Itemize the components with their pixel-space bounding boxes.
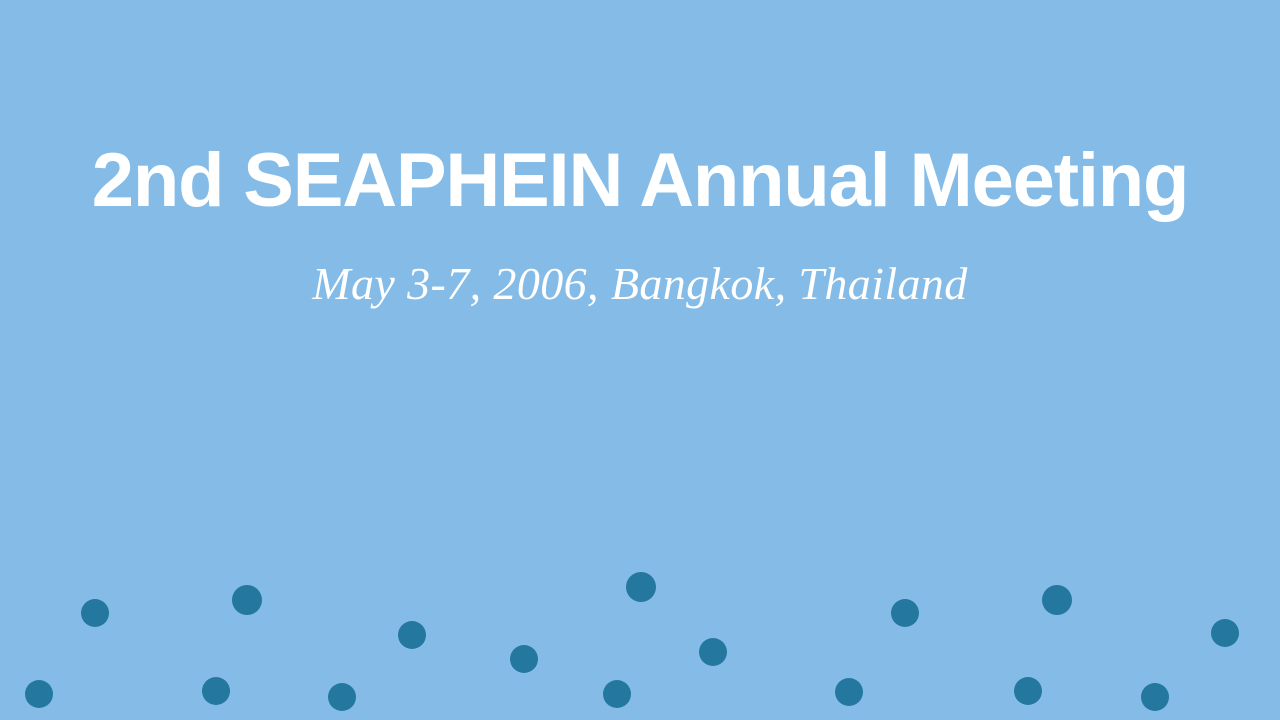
decorative-dot — [328, 683, 356, 711]
decorative-dot — [891, 599, 919, 627]
decorative-dot — [603, 680, 631, 708]
decorative-dot — [202, 677, 230, 705]
decorative-dot — [1141, 683, 1169, 711]
page-title: 2nd SEAPHEIN Annual Meeting — [0, 138, 1280, 224]
decorative-dot — [1014, 677, 1042, 705]
title-slide: 2nd SEAPHEIN Annual Meeting May 3-7, 200… — [0, 0, 1280, 720]
decorative-dot — [835, 678, 863, 706]
decorative-dot — [398, 621, 426, 649]
decorative-dot — [1211, 619, 1239, 647]
slide-subtitle: May 3-7, 2006, Bangkok, Thailand — [0, 256, 1280, 312]
decorative-dot — [81, 599, 109, 627]
decorative-dot — [626, 572, 656, 602]
decorative-dot — [232, 585, 262, 615]
decorative-dot — [1042, 585, 1072, 615]
decorative-dot — [25, 680, 53, 708]
decorative-dot-pattern — [0, 0, 1280, 720]
decorative-dot — [510, 645, 538, 673]
decorative-dot — [699, 638, 727, 666]
